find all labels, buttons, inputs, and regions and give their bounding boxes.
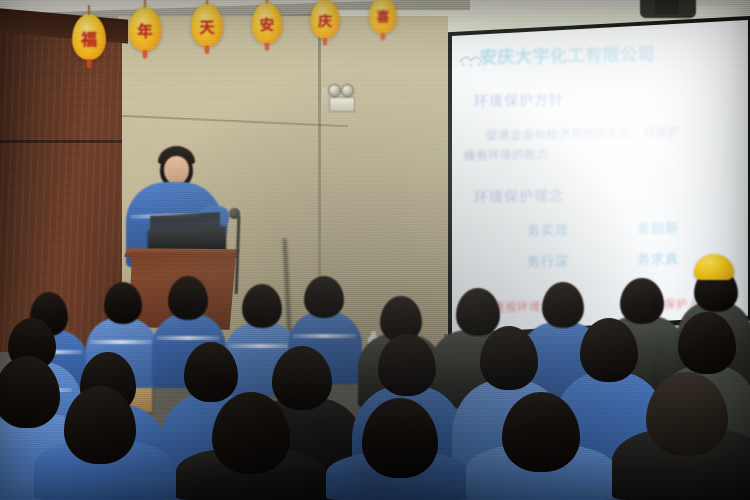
slide-title: 安庆大宇化工有限公司 [480,38,742,68]
reflective-stripe [228,344,294,348]
lantern-character: 安 [260,13,274,35]
emergency-lamp-right [341,84,354,97]
reflective-stripe [292,334,356,338]
reflective-stripe [90,340,152,344]
attendee-head [456,288,500,336]
lantern-character: 喜 [376,6,389,26]
slide-grid-item: 务求真 [618,248,698,269]
lantern-character: 天 [199,15,214,38]
emergency-light-body [329,97,355,112]
attendee-head [168,276,208,320]
attendee-head [378,334,436,396]
lantern-decoration: 年 [129,7,162,51]
attendee-head [184,342,238,402]
attendee-head [304,276,344,318]
lantern-tassel [381,33,385,40]
lantern-tassel [143,50,148,59]
slide-heading-policy: 环境保护方针 [474,90,564,112]
lantern-tassel [205,46,210,54]
lantern-decoration: 福 [72,14,106,60]
slide-body-line-1: 促进企业与经济可持续发展，努保护 [486,124,680,142]
attendee-head [678,312,736,374]
reflective-stripe [156,336,220,340]
lantern-tassel [87,59,92,68]
attendee-head [242,284,282,328]
slide-concept-grid: 务实效 务创新 务行深 务求真 [508,217,698,271]
slide-grid-item: 务实效 [508,219,588,240]
lantern-tassel [265,43,270,51]
lantern-tassel [323,38,327,46]
lantern-decoration: 安 [252,2,283,43]
slide-grid-item: 务创新 [618,217,698,238]
attendee-head [104,282,142,324]
presenter-face [164,156,189,184]
lantern-decoration: 天 [191,3,223,46]
microphone-head [229,208,240,219]
lantern-character: 年 [137,18,152,41]
ceiling-bracket [655,0,679,14]
lantern-character: 庆 [318,9,332,30]
attendee-head [620,278,664,324]
training-room-photo: 福年天安庆喜 安庆大宇化工有限公司 环境保护方针 促进企业与经济可持续发展，努保… [0,0,750,500]
lantern-decoration: 喜 [369,0,397,34]
slide-grid-item: 务行深 [508,250,588,271]
attendee-head [542,282,584,328]
lantern-decoration: 庆 [310,0,339,39]
emergency-light-icon [328,84,354,112]
slide-body-line-2: 维有环境的能力 [464,140,736,165]
lantern-character: 福 [81,26,97,50]
emergency-lamp-left [328,84,341,97]
slide-heading-concept: 环境保护理念 [474,186,564,208]
slide-body: 促进企业与经济可持续发展，努保护 维有环境的能力 [486,120,736,165]
